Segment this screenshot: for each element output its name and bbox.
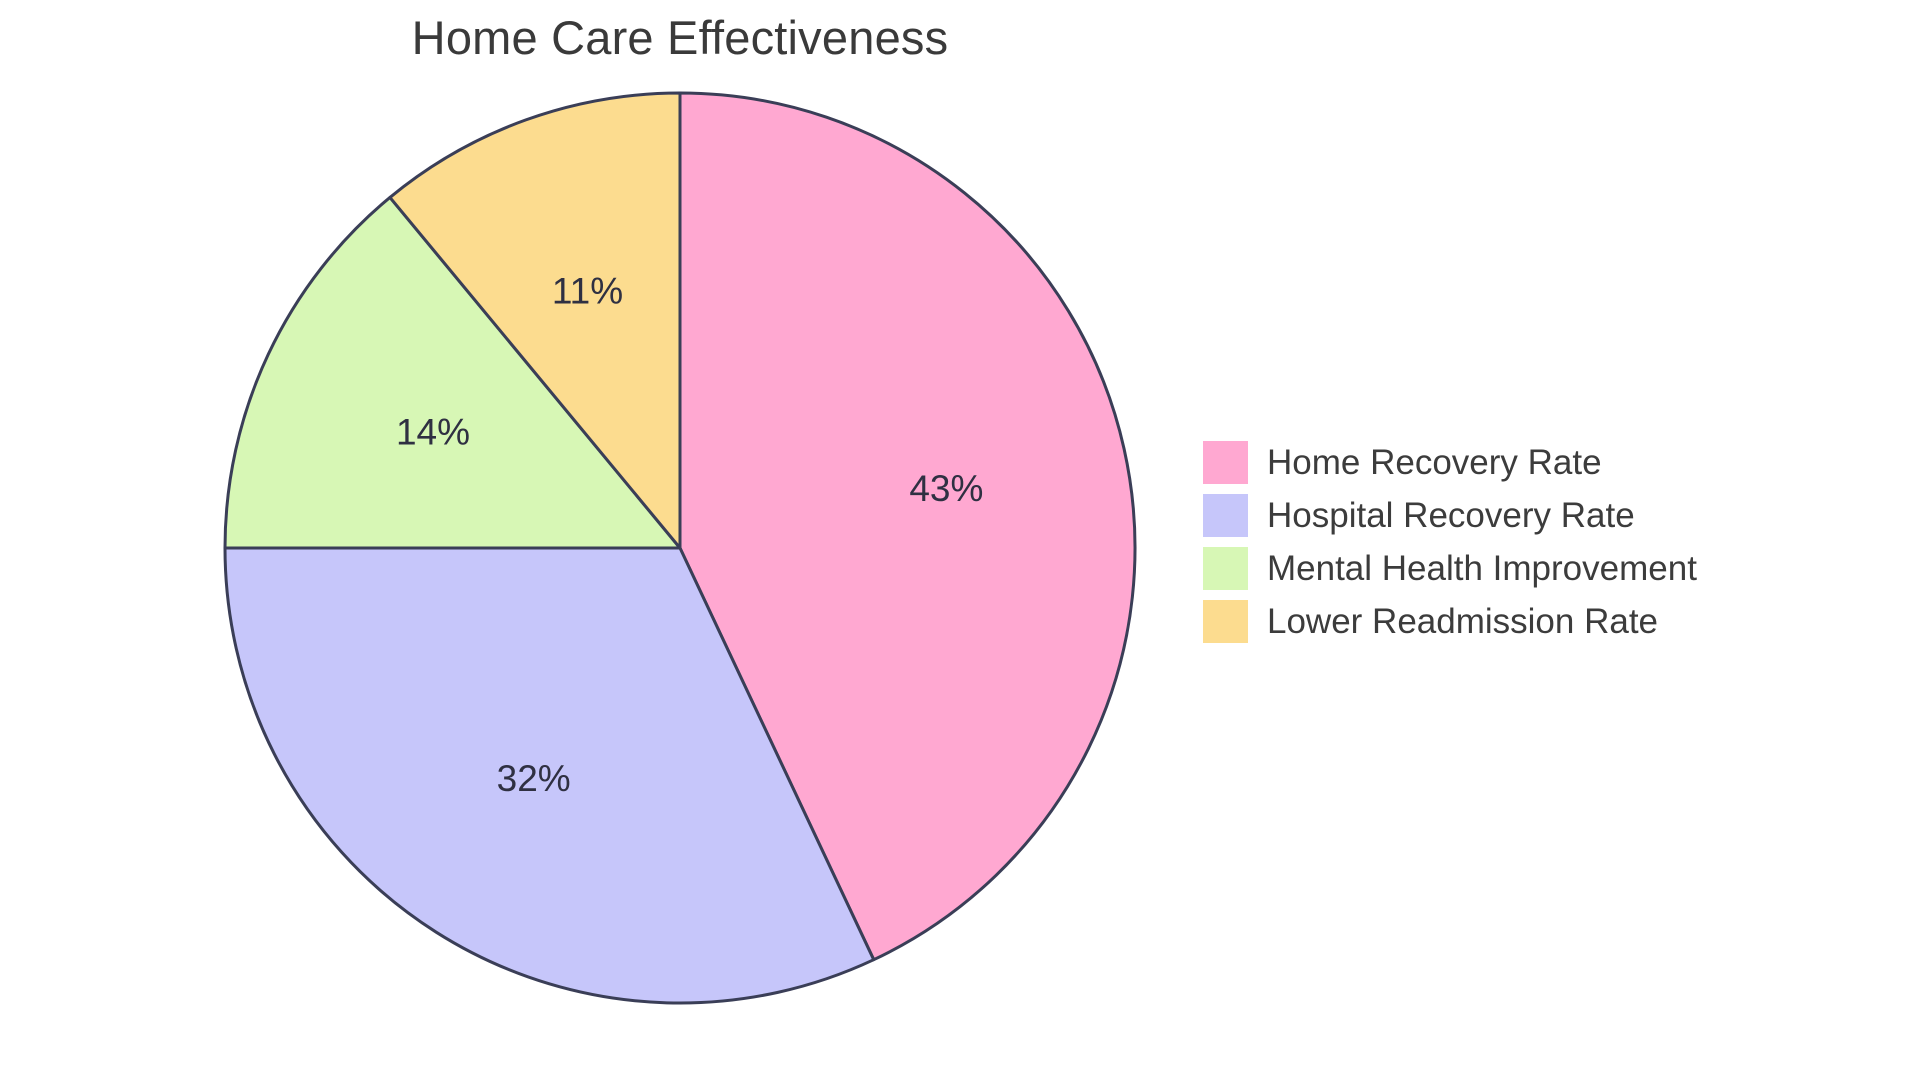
legend-item[interactable]: Hospital Recovery Rate [1203,489,1697,542]
legend-swatch-icon [1203,547,1248,590]
legend-item-label: Mental Health Improvement [1267,547,1697,590]
pie-slice-value-label: 32% [497,758,571,799]
legend-swatch-icon [1203,494,1248,537]
legend-item[interactable]: Mental Health Improvement [1203,542,1697,595]
legend-item-label: Home Recovery Rate [1267,441,1602,484]
legend-item[interactable]: Home Recovery Rate [1203,436,1697,489]
legend-item-label: Hospital Recovery Rate [1267,494,1635,537]
legend-swatch-icon [1203,441,1248,484]
pie-slice-value-label: 43% [909,468,983,509]
legend-item-label: Lower Readmission Rate [1267,600,1658,643]
chart-legend: Home Recovery Rate Hospital Recovery Rat… [1203,436,1697,648]
legend-swatch-icon [1203,600,1248,643]
pie-slice-value-label: 14% [396,411,470,452]
pie-slice-value-label: 11% [552,271,623,312]
chart-figure: Home Care Effectiveness 43%32%14%11% Hom… [0,0,1920,1083]
legend-item[interactable]: Lower Readmission Rate [1203,595,1697,648]
pie-slices-group [225,93,1135,1003]
